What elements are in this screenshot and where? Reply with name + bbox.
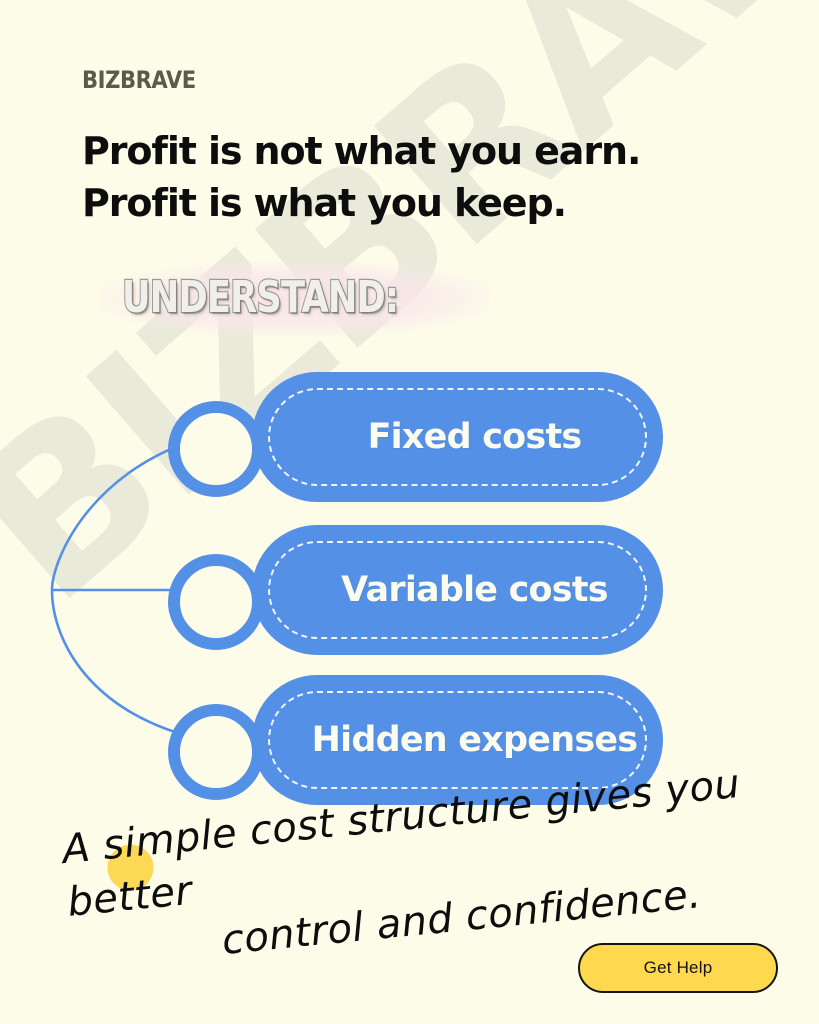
section-label-text: UNDERSTAND: (122, 276, 398, 320)
pill-label-fixed-costs: Fixed costs (252, 372, 663, 502)
pill-label-variable-costs: Variable costs (252, 525, 663, 655)
page-title: Profit is not what you earn. Profit is w… (82, 125, 742, 230)
list-item[interactable]: Fixed costs (252, 372, 663, 502)
node-circle-fixed-costs (168, 401, 264, 497)
node-circle-hidden-expenses (168, 704, 264, 800)
poster-canvas: BIZBRAVE BIZBRAVE Profit is not what you… (0, 0, 819, 1024)
get-help-button[interactable]: Get Help (578, 943, 778, 993)
brand-logo: BIZBRAVE (82, 66, 196, 94)
node-circle-variable-costs (168, 554, 264, 650)
section-label-badge: UNDERSTAND: (100, 262, 489, 336)
list-item[interactable]: Variable costs (252, 525, 663, 655)
